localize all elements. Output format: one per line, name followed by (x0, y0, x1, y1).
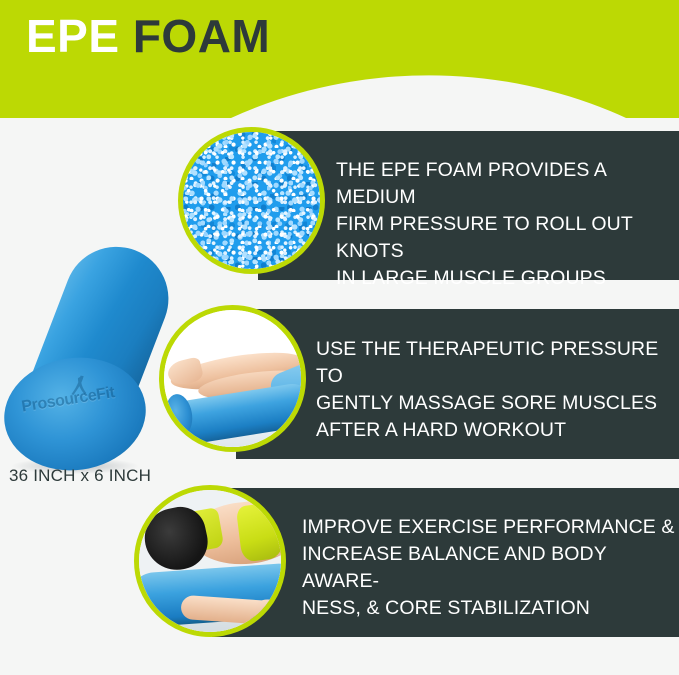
core-exercise-graphic (139, 490, 281, 632)
product-dimension-caption: 36 INCH x 6 INCH (9, 466, 151, 486)
page-title-space (120, 10, 133, 62)
athletic-top (236, 502, 286, 563)
feature-image-foam-texture (178, 127, 325, 274)
product-foam-roller: ProsourceFit (0, 236, 175, 471)
page-title: EPE FOAM (26, 12, 270, 60)
legs-massage-graphic (164, 310, 301, 447)
feature-text-2: USE THE THERAPEUTIC PRESSURE TO GENTLY M… (316, 336, 679, 444)
feature-image-legs-massage (159, 305, 306, 452)
feature-image-core-exercise (134, 485, 286, 637)
page-title-part-one: EPE (26, 10, 120, 62)
feature-text-1: THE EPE FOAM PROVIDES A MEDIUM FIRM PRES… (336, 157, 679, 292)
page-title-part-two: FOAM (133, 10, 270, 62)
feature-text-3: IMPROVE EXERCISE PERFORMANCE & INCREASE … (302, 514, 679, 622)
foam-texture-graphic (183, 132, 320, 269)
product-infographic: EPE FOAM THE EPE FOAM PROVIDES A MEDIUM … (0, 0, 679, 675)
